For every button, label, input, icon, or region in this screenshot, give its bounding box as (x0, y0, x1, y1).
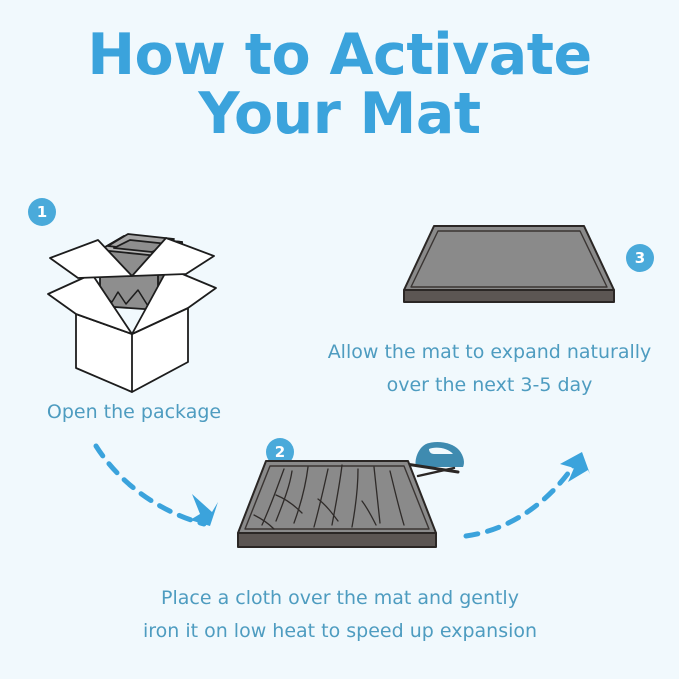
step-3-caption-line-2: over the next 3-5 day (300, 369, 679, 402)
wrinkled-mat-illustration (232, 455, 442, 565)
step-1-caption: Open the package (0, 396, 268, 429)
step-2-caption-line-2: iron it on low heat to speed up expansio… (80, 615, 600, 648)
arrow-step2-to-step3-icon (462, 440, 602, 544)
arrow-step1-to-step2-icon (92, 440, 232, 544)
page-title: How to Activate Your Mat (0, 26, 679, 145)
step-3-caption-line-1: Allow the mat to expand naturally (300, 336, 679, 369)
flat-mat-illustration (398, 218, 620, 320)
step-1-caption-line-1: Open the package (0, 396, 268, 429)
step-2-caption: Place a cloth over the mat and gently ir… (80, 582, 600, 648)
infographic-canvas: How to Activate Your Mat 1 (0, 0, 679, 679)
step-badge-3: 3 (626, 244, 654, 272)
step-3-caption: Allow the mat to expand naturally over t… (300, 336, 679, 402)
step-2-caption-line-1: Place a cloth over the mat and gently (80, 582, 600, 615)
title-line-1: How to Activate (0, 26, 679, 85)
title-line-2: Your Mat (0, 85, 679, 144)
open-box-illustration (42, 222, 222, 392)
